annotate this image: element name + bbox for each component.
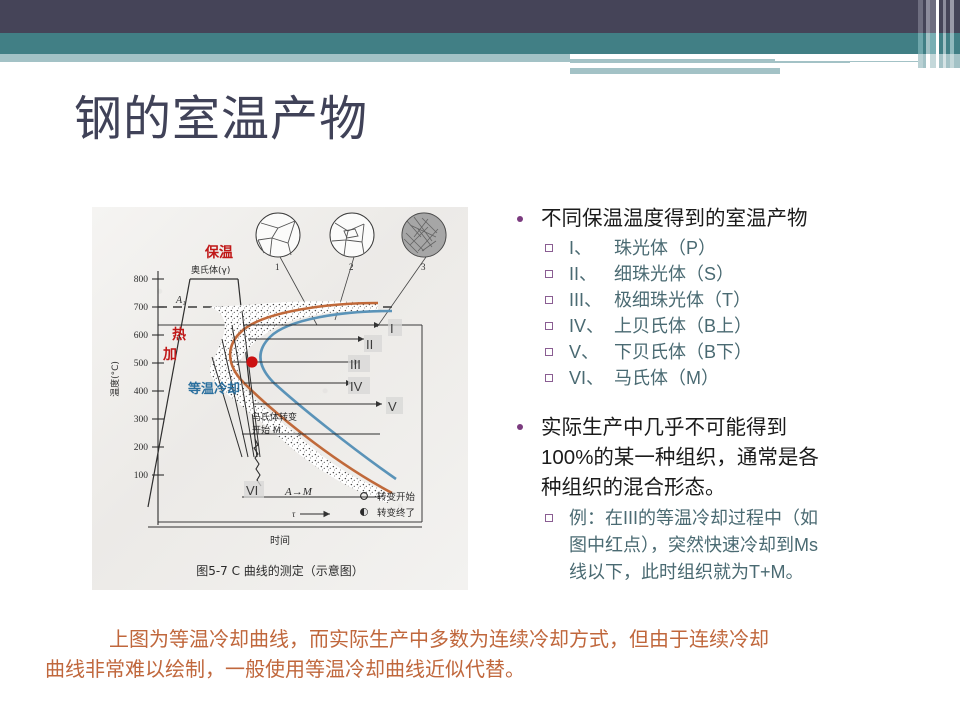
legend-text-finish: 转变终了 <box>377 507 415 519</box>
ttt-diagram-figure: 800 700 600 500 400 300 200 100 温度(°C) A… <box>92 207 468 590</box>
sub-bullet-V-text: 下贝氏体（B下） <box>614 342 752 362</box>
bullet-dot-icon <box>517 216 523 222</box>
footer-note-line1: 上图为等温冷却曲线，而实际生产中多数为连续冷却方式，但由于连续冷却 <box>45 625 925 655</box>
sub-bullet-V-num: V、 <box>569 339 609 365</box>
micro-circle-3: 3 <box>402 213 446 272</box>
sub-bullet-II-num: II、 <box>569 261 609 287</box>
y-axis-label: 温度(°C) <box>109 361 121 397</box>
sub-bullet-III: III、 极细珠光体（T） <box>505 287 955 313</box>
heating-label-char2: 加 <box>162 347 177 363</box>
bullet-2-line3: 种组织的混合形态。 <box>541 473 955 503</box>
bullet-dot-icon <box>517 424 523 430</box>
page-title: 钢的室温产物 <box>74 80 774 160</box>
region-label-III: III <box>350 357 361 372</box>
sub-bullet-square-icon <box>545 270 553 278</box>
sub-bullet-VI-num: VI、 <box>569 365 609 391</box>
y-tick-600: 600 <box>134 331 149 341</box>
bullet-2-line1: 实际生产中几乎不可能得到 <box>541 413 955 443</box>
sub-bullet-I-text: 珠光体（P） <box>614 238 716 258</box>
y-tick-100: 100 <box>134 471 149 481</box>
y-tick-800: 800 <box>134 275 149 285</box>
header-vstripe-pale-10 <box>954 54 960 68</box>
heating-label-char1: 热 <box>172 326 186 343</box>
y-tick-500: 500 <box>134 359 149 369</box>
sub-bullet-IV-num: IV、 <box>569 313 609 339</box>
y-tick-700: 700 <box>134 303 149 313</box>
martensite-start-line1: 马氏体转变 <box>252 411 297 423</box>
hold-label: 保温 <box>204 244 233 261</box>
header-teal-band <box>0 33 930 54</box>
sub-bullet-square-icon <box>545 374 553 382</box>
bullet-item-1: 不同保温温度得到的室温产物 <box>505 205 955 233</box>
content-bullet-list: 不同保温温度得到的室温产物 I、 珠光体（P） II、 细珠光体（S） III、… <box>505 205 955 586</box>
bullet-1-text: 不同保温温度得到的室温产物 <box>541 207 808 230</box>
sub-bullet-II: II、 细珠光体（S） <box>505 261 955 287</box>
tau-label: τ <box>292 509 296 519</box>
region-label-IV: IV <box>350 379 363 394</box>
y-tick-400: 400 <box>134 387 149 397</box>
red-dot-marker <box>246 356 257 367</box>
sub-bullet-IV: IV、 上贝氏体（B上） <box>505 313 955 339</box>
martensite-transformation-line <box>254 439 261 486</box>
legend-open-circle-icon <box>361 493 368 500</box>
bullet-group-2: 实际生产中几乎不可能得到 100%的某一种组织，通常是各 种组织的混合形态。 例… <box>505 413 955 586</box>
austenite-label: 奥氏体(γ) <box>191 264 230 276</box>
bullet-item-2: 实际生产中几乎不可能得到 100%的某一种组织，通常是各 种组织的混合形态。 <box>505 413 955 503</box>
sub-bullet-square-icon <box>545 322 553 330</box>
footer-note-line1-text: 上图为等温冷却曲线，而实际生产中多数为连续冷却方式，但由于连续冷却 <box>109 629 769 651</box>
header-vstripe-10 <box>954 0 960 33</box>
sub-bullet-I-num: I、 <box>569 235 609 261</box>
sub-bullet-example-line1: 例：在III的等温冷却过程中（如 <box>569 505 955 532</box>
header-accent-thin-white <box>775 58 930 61</box>
martensite-start-subscript: s <box>298 430 301 438</box>
micro-circle-1: 1 <box>256 213 300 272</box>
isothermal-cooling-label: 等温冷却 <box>187 381 240 397</box>
y-tick-200: 200 <box>134 443 149 453</box>
region-label-VI: VI <box>246 483 258 498</box>
legend-text-start: 转变开始 <box>377 491 416 503</box>
y-tick-300: 300 <box>134 415 149 425</box>
sub-bullet-square-icon <box>545 514 553 522</box>
sub-bullet-VI: VI、 马氏体（M） <box>505 365 955 391</box>
micro-label-1: 1 <box>275 262 280 272</box>
header-decoration <box>0 0 960 80</box>
sub-bullet-V: V、 下贝氏体（B下） <box>505 339 955 365</box>
a1-label: A₁ <box>175 295 186 306</box>
sub-bullet-II-text: 细珠光体（S） <box>614 264 734 284</box>
ttt-diagram-svg: 800 700 600 500 400 300 200 100 温度(°C) A… <box>92 207 468 590</box>
sub-bullet-IV-text: 上贝氏体（B上） <box>614 316 752 336</box>
sub-bullet-example-line2: 图中红点），突然快速冷却到Ms <box>569 532 955 559</box>
header-vstripe-teal-10 <box>954 33 960 54</box>
sub-bullet-VI-text: 马氏体（M） <box>614 368 719 388</box>
sub-bullet-example: 例：在III的等温冷却过程中（如 图中红点），突然快速冷却到Ms 线以下，此时组… <box>505 505 955 586</box>
region-label-I: I <box>390 321 394 336</box>
martensite-start-line2: 开始 M <box>252 424 281 436</box>
footer-note: 上图为等温冷却曲线，而实际生产中多数为连续冷却方式，但由于连续冷却 曲线非常难以… <box>45 625 925 685</box>
region-label-II: II <box>366 337 373 352</box>
a-to-m-label: A→M <box>284 486 313 498</box>
region-label-V: V <box>388 399 397 414</box>
sub-bullet-III-num: III、 <box>569 287 609 313</box>
footer-note-line2-text: 曲线非常难以绘制，一般使用等温冷却曲线近似代替。 <box>45 655 925 685</box>
sub-bullet-square-icon <box>545 348 553 356</box>
figure-caption: 图5-7 C 曲线的测定（示意图） <box>196 563 364 578</box>
bullet-2-line2: 100%的某一种组织，通常是各 <box>541 443 955 473</box>
sub-bullet-square-icon <box>545 296 553 304</box>
sub-bullet-example-line3: 线以下，此时组织就为T+M。 <box>569 559 955 586</box>
sub-bullet-square-icon <box>545 244 553 252</box>
header-dark-band <box>0 0 930 33</box>
sub-bullet-III-text: 极细珠光体（T） <box>614 290 751 310</box>
sub-bullet-I: I、 珠光体（P） <box>505 235 955 261</box>
x-axis-label: 时间 <box>270 534 290 547</box>
